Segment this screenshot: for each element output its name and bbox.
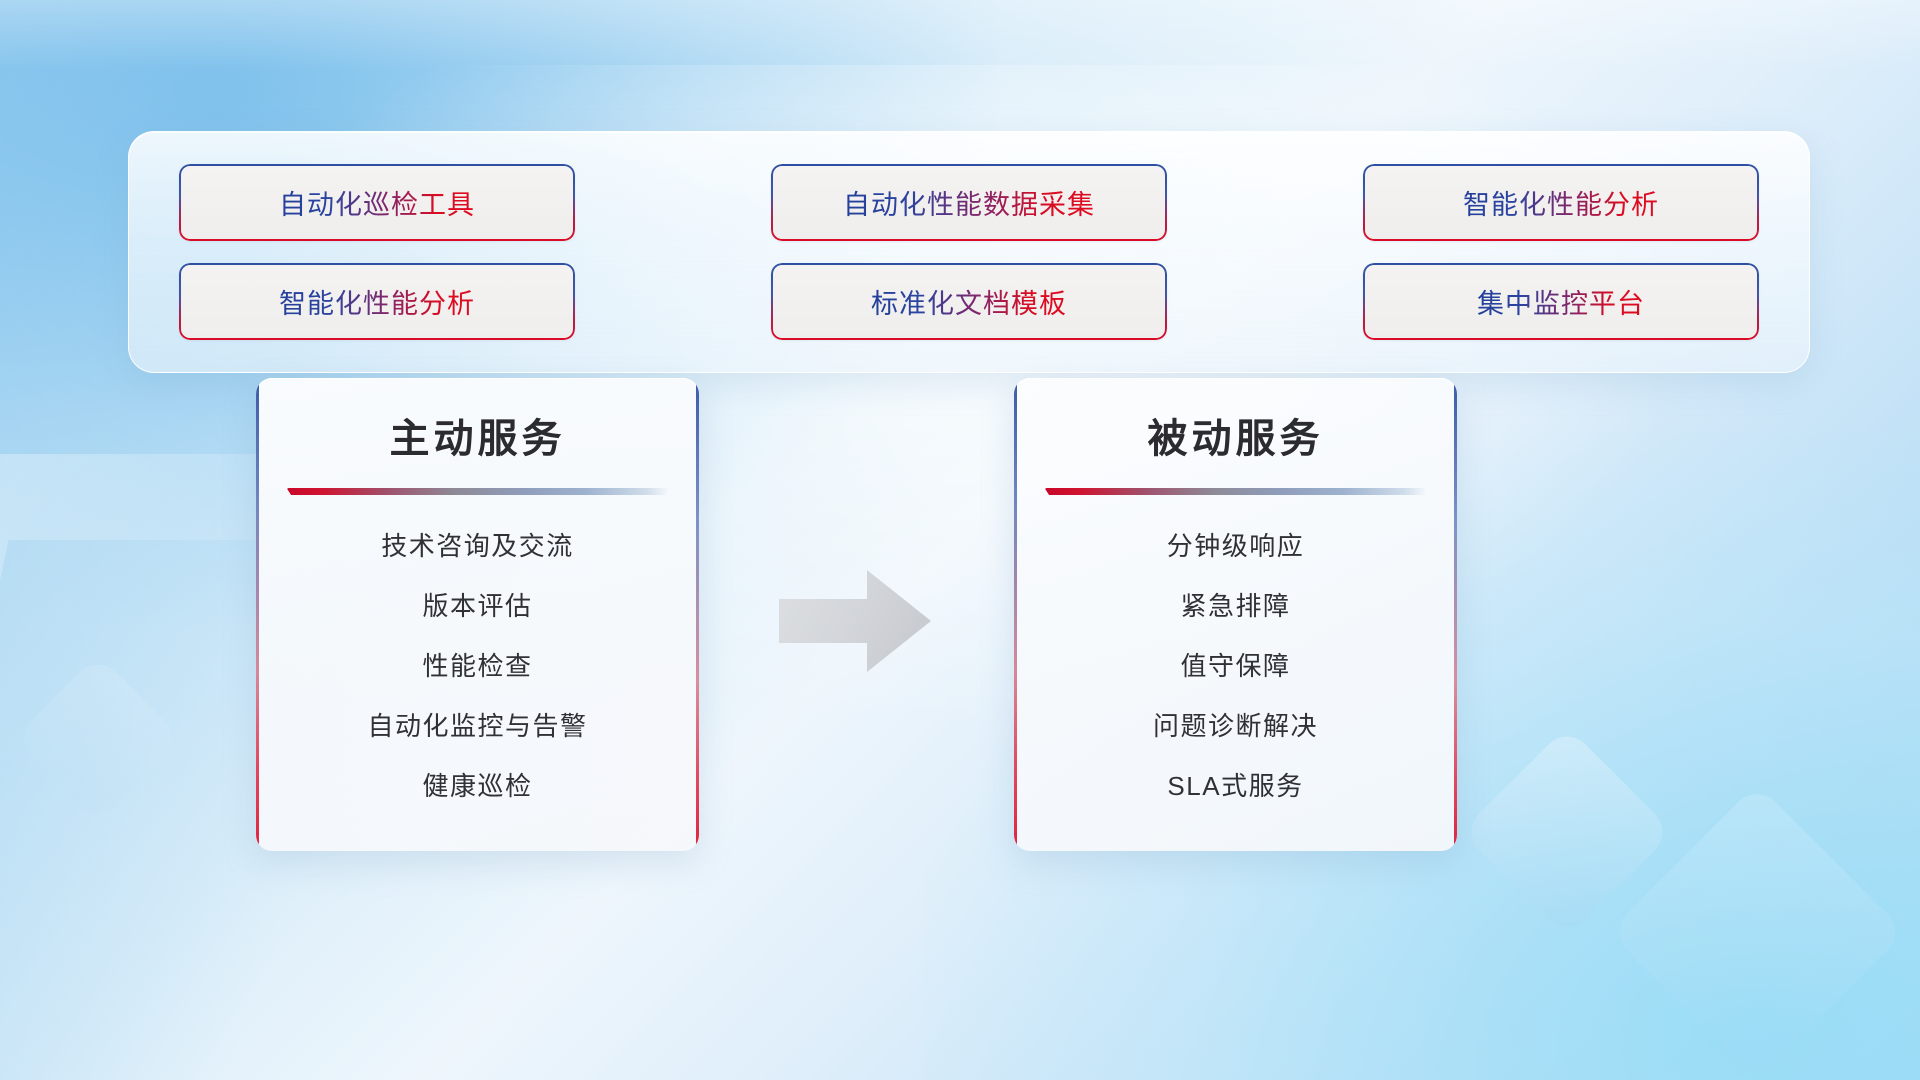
pill-label: 自动化性能数据采集 (843, 183, 1095, 222)
card-title: 被动服务 (1148, 416, 1324, 462)
slide-stage: 自动化巡检工具 自动化性能数据采集 智能化性能分析 智能化性能分析 标准化文档模… (0, 0, 1920, 1080)
card-title-underline (287, 488, 669, 495)
card-passive-service: 被动服务 分钟级响应 紧急排障 值守保障 问题诊断解决 SLA式服务 (1014, 378, 1457, 851)
list-item: 性能检查 (422, 653, 532, 679)
pill-grid: 自动化巡检工具 自动化性能数据采集 智能化性能分析 智能化性能分析 标准化文档模… (179, 164, 1759, 340)
list-item: 紧急排障 (1180, 593, 1290, 619)
pill-standardized-document-template[interactable]: 标准化文档模板 (771, 263, 1167, 340)
pill-label: 智能化性能分析 (279, 282, 475, 321)
pill-label: 标准化文档模板 (871, 282, 1067, 321)
pill-centralized-monitoring-platform[interactable]: 集中监控平台 (1363, 263, 1759, 340)
pill-label: 自动化巡检工具 (279, 183, 475, 222)
list-item: 健康巡检 (422, 773, 532, 799)
pill-label: 智能化性能分析 (1463, 183, 1659, 222)
pill-automated-inspection-tool[interactable]: 自动化巡检工具 (179, 164, 575, 241)
pill-label: 集中监控平台 (1477, 282, 1645, 321)
list-item: 自动化监控与告警 (367, 713, 587, 739)
list-item: 分钟级响应 (1167, 533, 1305, 559)
card-item-list: 技术咨询及交流 版本评估 性能检查 自动化监控与告警 健康巡检 (282, 533, 673, 799)
list-item: SLA式服务 (1167, 773, 1303, 799)
list-item: 值守保障 (1180, 653, 1290, 679)
list-item: 版本评估 (422, 593, 532, 619)
flow-arrow-right (775, 566, 935, 676)
list-item: 技术咨询及交流 (381, 533, 574, 559)
pill-intelligent-performance-analysis-top[interactable]: 智能化性能分析 (1363, 164, 1759, 241)
capability-pill-panel: 自动化巡检工具 自动化性能数据采集 智能化性能分析 智能化性能分析 标准化文档模… (128, 131, 1810, 373)
pill-automated-performance-data-collection[interactable]: 自动化性能数据采集 (771, 164, 1167, 241)
card-active-service: 主动服务 技术咨询及交流 版本评估 性能检查 自动化监控与告警 健康巡检 (256, 378, 699, 851)
pill-intelligent-performance-analysis-bottom[interactable]: 智能化性能分析 (179, 263, 575, 340)
card-item-list: 分钟级响应 紧急排障 值守保障 问题诊断解决 SLA式服务 (1040, 533, 1431, 799)
list-item: 问题诊断解决 (1153, 713, 1318, 739)
card-title-underline (1045, 488, 1427, 495)
card-title: 主动服务 (390, 416, 566, 462)
